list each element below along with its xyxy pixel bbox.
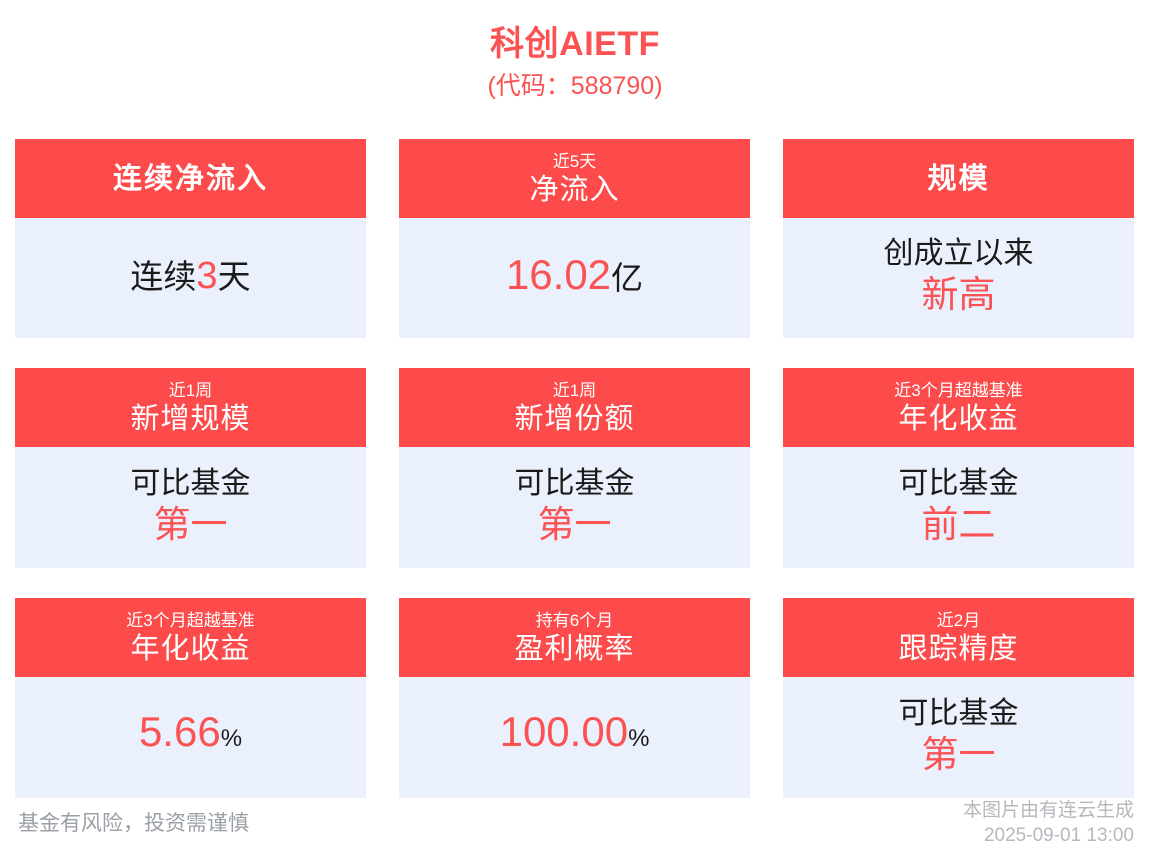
value-highlight: 第一 (538, 503, 612, 547)
metric-card[interactable]: 近3个月超越基准 年化收益 5.66 % (15, 598, 366, 798)
card-body: 可比基金 第一 (783, 677, 1134, 798)
card-headline: 跟踪精度 (898, 632, 1018, 666)
card-eyebrow: 近2月 (937, 610, 980, 632)
metric-card[interactable]: 连续净流入 连续 3 天 (15, 139, 366, 338)
metric-card[interactable]: 近3个月超越基准 年化收益 可比基金 前二 (783, 368, 1134, 568)
card-body: 可比基金 第一 (15, 447, 366, 568)
value-unit: % (628, 714, 649, 764)
card-header: 近3个月超越基准 年化收益 (15, 598, 366, 677)
generator-source: 本图片由有连云生成 (963, 798, 1134, 823)
value-caption: 可比基金 (899, 465, 1019, 503)
card-eyebrow: 近3个月超越基准 (126, 610, 254, 632)
card-header: 连续净流入 (15, 139, 366, 218)
card-header: 持有6个月 盈利概率 (399, 598, 750, 677)
metric-card-grid: 连续净流入 连续 3 天 近5天 净流入 16.02 亿 规模 (15, 139, 1135, 798)
card-header: 规模 (783, 139, 1134, 218)
card-body: 创成立以来 新高 (783, 218, 1134, 338)
card-eyebrow: 持有6个月 (536, 610, 613, 632)
metric-card[interactable]: 近2月 跟踪精度 可比基金 第一 (783, 598, 1134, 798)
value-caption: 可比基金 (131, 465, 251, 503)
card-header: 近5天 净流入 (399, 139, 750, 218)
card-headline: 年化收益 (130, 632, 250, 666)
card-value: 100.00 % (500, 707, 650, 764)
card-headline: 规模 (927, 162, 989, 196)
generator-credit: 本图片由有连云生成 2025-09-01 13:00 (963, 798, 1134, 848)
card-header: 近1周 新增份额 (399, 368, 750, 447)
card-body: 100.00 % (399, 677, 750, 798)
card-eyebrow: 近3个月超越基准 (894, 380, 1022, 402)
metric-card[interactable]: 持有6个月 盈利概率 100.00 % (399, 598, 750, 798)
value-unit: 亿 (611, 253, 643, 303)
card-value: 连续 3 天 (130, 254, 250, 299)
value-suffix: 天 (218, 255, 251, 299)
value-caption: 可比基金 (515, 465, 635, 503)
metric-card[interactable]: 规模 创成立以来 新高 (783, 139, 1134, 338)
card-header: 近1周 新增规模 (15, 368, 366, 447)
value-number: 3 (196, 254, 217, 298)
card-header: 近2月 跟踪精度 (783, 598, 1134, 677)
risk-disclaimer: 基金有风险，投资需谨慎 (18, 810, 249, 838)
card-headline: 新增份额 (514, 402, 634, 436)
value-caption: 可比基金 (899, 695, 1019, 733)
generated-timestamp: 2025-09-01 13:00 (963, 823, 1134, 848)
card-body: 连续 3 天 (15, 218, 366, 338)
page-title: 科创AIETF (0, 22, 1150, 66)
value-highlight: 新高 (922, 273, 996, 317)
card-body: 16.02 亿 (399, 218, 750, 338)
card-body: 5.66 % (15, 677, 366, 798)
card-headline: 年化收益 (898, 402, 1018, 436)
card-headline: 盈利概率 (514, 632, 634, 666)
metric-card[interactable]: 近1周 新增份额 可比基金 第一 (399, 368, 750, 568)
value-highlight: 前二 (922, 503, 996, 547)
card-headline: 连续净流入 (113, 162, 268, 196)
card-headline: 净流入 (529, 173, 619, 207)
card-headline: 新增规模 (130, 402, 250, 436)
card-value: 16.02 亿 (506, 250, 643, 303)
value-number: 100.00 (500, 707, 628, 757)
value-number: 5.66 (139, 707, 221, 757)
fund-code: (代码：588790) (0, 68, 1150, 104)
value-unit: % (221, 714, 242, 764)
value-number: 16.02 (506, 250, 611, 300)
card-body: 可比基金 前二 (783, 447, 1134, 568)
card-header: 近3个月超越基准 年化收益 (783, 368, 1134, 447)
value-highlight: 第一 (154, 503, 228, 547)
card-eyebrow: 近1周 (553, 380, 596, 402)
card-body: 可比基金 第一 (399, 447, 750, 568)
metric-card[interactable]: 近5天 净流入 16.02 亿 (399, 139, 750, 338)
page-title-block: 科创AIETF (代码：588790) (0, 0, 1150, 104)
card-value: 5.66 % (139, 707, 242, 764)
card-eyebrow: 近1周 (169, 380, 212, 402)
metric-card[interactable]: 近1周 新增规模 可比基金 第一 (15, 368, 366, 568)
value-prefix: 连续 (130, 255, 196, 299)
card-eyebrow: 近5天 (553, 151, 596, 173)
value-highlight: 第一 (922, 733, 996, 777)
value-caption: 创成立以来 (884, 235, 1034, 273)
